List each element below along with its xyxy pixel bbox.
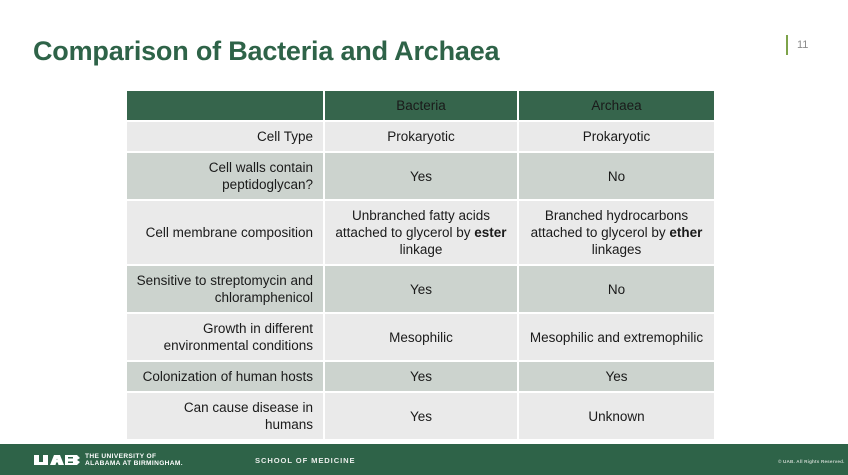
footer-copyright: © UAB. All Rights Reserved. <box>778 459 845 464</box>
uab-logo-mark-icon <box>33 453 81 467</box>
uab-logo: THE UNIVERSITY OF ALABAMA AT BIRMINGHAM. <box>33 453 183 468</box>
table-row: Sensitive to streptomycin and chloramphe… <box>127 266 714 314</box>
table-header-cell-bacteria: Bacteria <box>325 91 519 122</box>
table-body: Cell Type Prokaryotic Prokaryotic Cell w… <box>127 122 714 439</box>
row-value-archaea-emphasis: ether <box>669 225 702 240</box>
row-value-bacteria-emphasis: ester <box>474 225 506 240</box>
uab-university-line-2: ALABAMA AT BIRMINGHAM. <box>85 460 183 467</box>
row-value-bacteria-post: linkage <box>400 242 443 257</box>
row-value-archaea: Prokaryotic <box>519 122 714 153</box>
row-label: Sensitive to streptomycin and chloramphe… <box>127 266 325 314</box>
row-value-bacteria: Mesophilic <box>325 314 519 362</box>
row-value-bacteria: Yes <box>325 266 519 314</box>
row-label: Colonization of human hosts <box>127 362 325 393</box>
uab-wordmark: THE UNIVERSITY OF ALABAMA AT BIRMINGHAM. <box>85 453 183 468</box>
row-value-archaea-pre: Branched hydrocarbons attached to glycer… <box>531 208 689 240</box>
slide-number: 11 <box>797 35 808 55</box>
table-header-row: Bacteria Archaea <box>127 91 714 122</box>
row-value-archaea-post: linkages <box>592 242 642 257</box>
row-value-bacteria: Prokaryotic <box>325 122 519 153</box>
row-value-archaea: No <box>519 153 714 201</box>
table-row: Colonization of human hosts Yes Yes <box>127 362 714 393</box>
row-value-bacteria: Yes <box>325 362 519 393</box>
uab-university-line-1: THE UNIVERSITY OF <box>85 453 183 460</box>
footer-school-label: SCHOOL OF MEDICINE <box>255 456 355 465</box>
row-value-archaea: Unknown <box>519 393 714 439</box>
row-label: Cell membrane composition <box>127 201 325 266</box>
slide-number-rule-icon <box>786 35 788 55</box>
row-value-archaea: Yes <box>519 362 714 393</box>
table-row: Can cause disease in humans Yes Unknown <box>127 393 714 439</box>
row-value-bacteria: Unbranched fatty acids attached to glyce… <box>325 201 519 266</box>
table-header-cell-blank <box>127 91 325 122</box>
table-header: Bacteria Archaea <box>127 91 714 122</box>
row-label: Can cause disease in humans <box>127 393 325 439</box>
row-value-archaea: Mesophilic and extremophilic <box>519 314 714 362</box>
slide: Comparison of Bacteria and Archaea 11 Ba… <box>0 0 848 475</box>
table-row: Cell membrane composition Unbranched fat… <box>127 201 714 266</box>
row-value-bacteria: Yes <box>325 153 519 201</box>
row-value-bacteria-pre: Unbranched fatty acids attached to glyce… <box>335 208 490 240</box>
table-row: Growth in different environmental condit… <box>127 314 714 362</box>
table-row: Cell Type Prokaryotic Prokaryotic <box>127 122 714 153</box>
slide-number-group: 11 <box>786 34 808 56</box>
row-value-archaea: No <box>519 266 714 314</box>
page-title: Comparison of Bacteria and Archaea <box>33 36 499 67</box>
comparison-table: Bacteria Archaea Cell Type Prokaryotic P… <box>127 91 714 439</box>
row-label: Cell Type <box>127 122 325 153</box>
row-value-archaea: Branched hydrocarbons attached to glycer… <box>519 201 714 266</box>
table-row: Cell walls contain peptidoglycan? Yes No <box>127 153 714 201</box>
table-header-cell-archaea: Archaea <box>519 91 714 122</box>
row-label: Growth in different environmental condit… <box>127 314 325 362</box>
row-value-bacteria: Yes <box>325 393 519 439</box>
row-label: Cell walls contain peptidoglycan? <box>127 153 325 201</box>
